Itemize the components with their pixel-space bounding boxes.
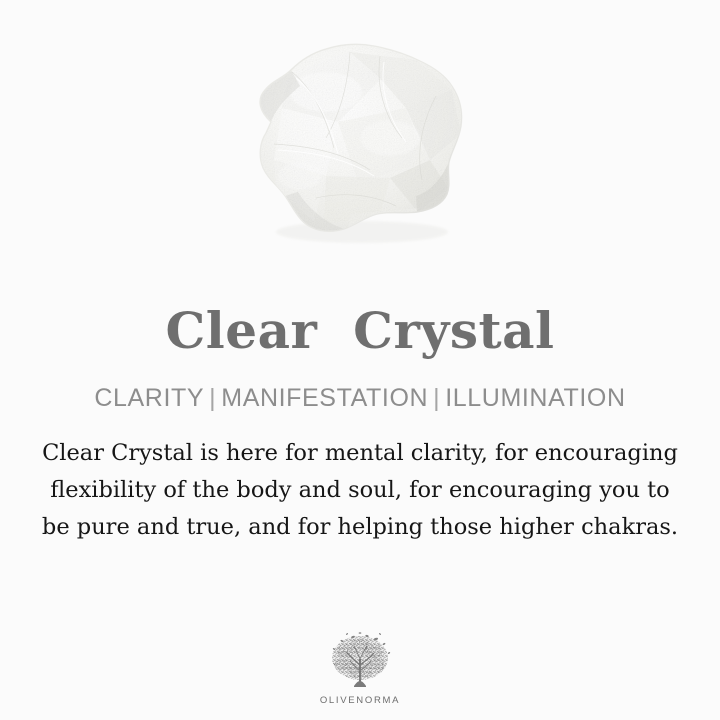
page-title: Clear Crystal	[166, 288, 555, 356]
brand-wordmark: OLIVENORMA	[320, 695, 400, 706]
hero-image-area	[0, 0, 720, 288]
keyword-manifestation: MANIFESTATION	[221, 384, 428, 412]
product-description: Clear Crystal is here for mental clarity…	[40, 413, 680, 546]
crystal-shadow	[276, 221, 448, 243]
keyword-illumination: ILLUMINATION	[445, 384, 625, 412]
olive-tree-icon	[322, 631, 398, 693]
tree-root-flare	[354, 681, 366, 687]
keyword-clarity: CLARITY	[94, 384, 204, 412]
keyword-separator-2: |	[428, 384, 445, 412]
clear-crystal-image	[230, 26, 490, 276]
brand-logo: OLIVENORMA	[0, 631, 720, 706]
keyword-separator-1: |	[204, 384, 221, 412]
product-info-card: Clear Crystal CLARITY|MANIFESTATION|ILLU…	[0, 0, 720, 720]
keyword-line: CLARITY|MANIFESTATION|ILLUMINATION	[94, 356, 625, 413]
tree-canopy	[332, 636, 388, 680]
